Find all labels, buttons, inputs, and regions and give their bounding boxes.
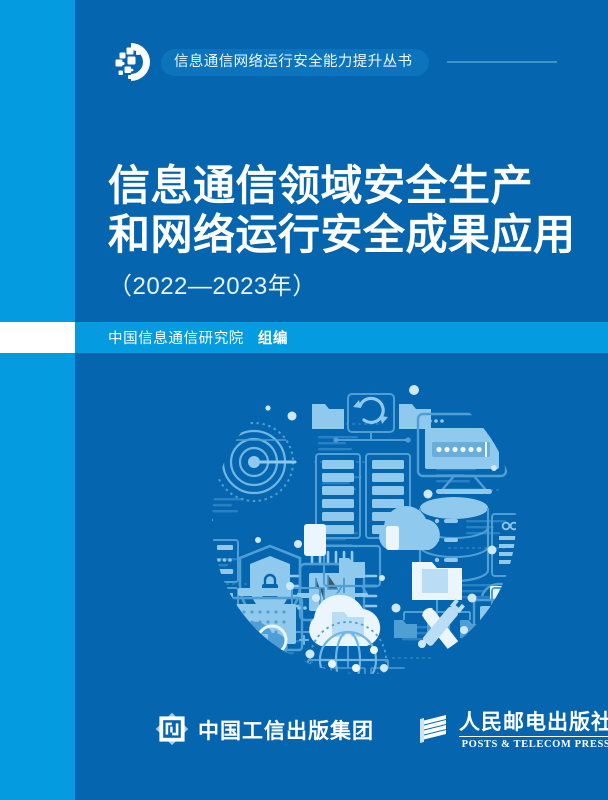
radar-target-icon	[215, 423, 295, 501]
spine-white-notch	[0, 322, 75, 353]
publisher-ciit: 中国工信出版集团	[155, 712, 374, 751]
ciit-diamond-logo	[155, 712, 189, 751]
left-accent-stripe	[0, 0, 75, 800]
book-title-line-2: 和网络运行安全成果应用	[108, 211, 576, 260]
author-organization: 中国信息通信研究院	[108, 327, 244, 348]
publisher-name-ciit: 中国工信出版集团	[198, 721, 374, 742]
title-block: 信息通信领域安全生产 和网络运行安全成果应用 （2022—2023年）	[108, 162, 576, 302]
ptpress-stack-logo	[418, 712, 450, 751]
illustration-canvas	[196, 372, 532, 682]
smartphone-icon	[386, 526, 399, 550]
folder-icon	[312, 404, 344, 429]
series-divider-rule	[447, 61, 557, 63]
book-title-line-1: 信息通信领域安全生产	[108, 162, 576, 211]
book-subtitle: （2022—2023年）	[108, 273, 576, 302]
publisher-ptpress: 人民邮电出版社 POSTS & TELECOM PRESS	[418, 712, 608, 751]
gears-monitor-icon	[474, 584, 530, 654]
wrench-screwdriver-icon	[420, 599, 465, 651]
publisher-footer: 中国工信出版集团 人民邮电出版社 POSTS & TELECOM PRESS	[75, 700, 608, 762]
publisher-name-ptpress: 人民邮电出版社	[459, 712, 608, 733]
series-banner: 信息通信网络运行安全能力提升丛书	[75, 0, 608, 118]
document-icon	[492, 514, 532, 576]
technology-illustration	[196, 372, 532, 682]
series-label-pill: 信息通信网络运行安全能力提升丛书	[161, 49, 429, 76]
author-role: 组编	[258, 327, 288, 348]
server-rack-icon	[212, 540, 238, 582]
publisher-underline	[459, 736, 608, 738]
publisher-name-ptpress-en: POSTS & TELECOM PRESS	[459, 740, 608, 751]
pixel-globe-icon	[111, 40, 155, 84]
author-band: 中国信息通信研究院 组编	[75, 322, 608, 353]
dial-gauge-icon	[492, 588, 532, 628]
series-label: 信息通信网络运行安全能力提升丛书	[174, 55, 412, 70]
tablet-icon	[304, 524, 326, 556]
folder-icon	[399, 404, 431, 429]
book-cover: 信息通信网络运行安全能力提升丛书 信息通信领域安全生产 和网络运行安全成果应用 …	[0, 0, 608, 800]
